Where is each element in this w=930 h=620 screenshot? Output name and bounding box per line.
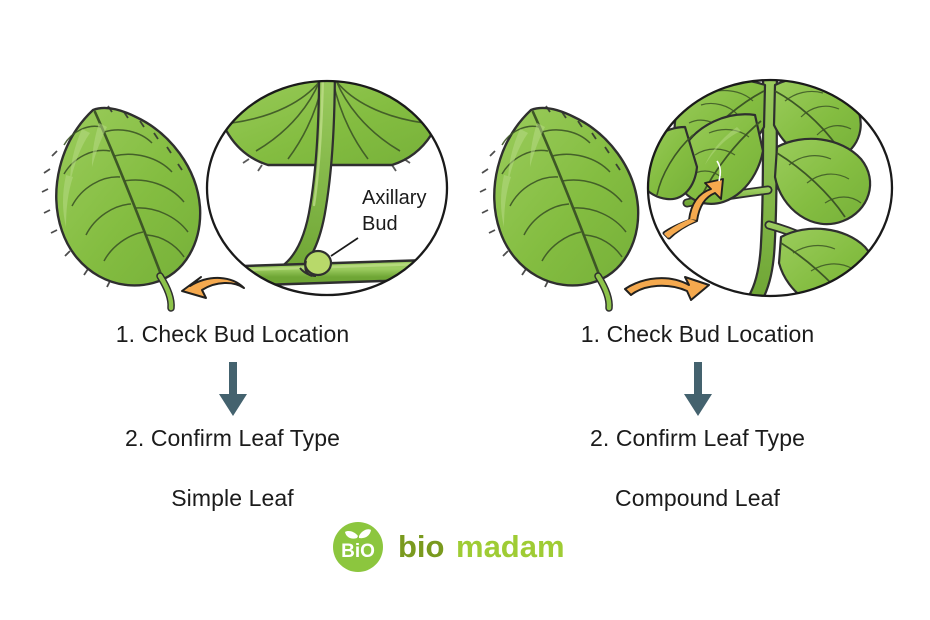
conclusion-label-simple: Simple Leaf [0, 484, 465, 512]
step-1-label-simple: 1. Check Bud Location [0, 320, 465, 348]
illustration-compound-leaf [465, 55, 930, 310]
bio-badge-icon: BiO [332, 521, 384, 573]
brand-logo[interactable]: BiO bio madam [0, 518, 930, 576]
wordmark-bio: bio [398, 529, 445, 564]
magnifier-circle-compound [638, 71, 897, 308]
compound-panel-leaf-illustration [480, 106, 638, 308]
illustration-simple-leaf: Axillary Bud [0, 55, 465, 310]
wordmark-madam: madam [456, 529, 565, 564]
step-down-arrow-compound [678, 362, 718, 418]
magnifier-circle-simple [205, 69, 452, 299]
axillary-bud [305, 251, 331, 275]
conclusion-label-compound: Compound Leaf [465, 484, 930, 512]
step-down-arrow-simple [213, 362, 253, 418]
callout-label-line2: Bud [362, 213, 398, 235]
step-2-label-compound: 2. Confirm Leaf Type [465, 424, 930, 452]
bio-badge-text: BiO [341, 541, 375, 562]
orange-pointer-arrow [182, 277, 244, 298]
biomadam-wordmark: bio madam [398, 527, 598, 567]
diagram-canvas: Axillary Bud 1. Check Bud Location 2. Co… [0, 0, 930, 620]
step-1-label-compound: 1. Check Bud Location [465, 320, 930, 348]
callout-label-line1: Axillary [362, 187, 426, 209]
orange-pointer-arrow [625, 277, 709, 300]
step-2-label-simple: 2. Confirm Leaf Type [0, 424, 465, 452]
simple-leaf-illustration [42, 106, 200, 308]
leaflet-far-left-edge [638, 127, 697, 199]
